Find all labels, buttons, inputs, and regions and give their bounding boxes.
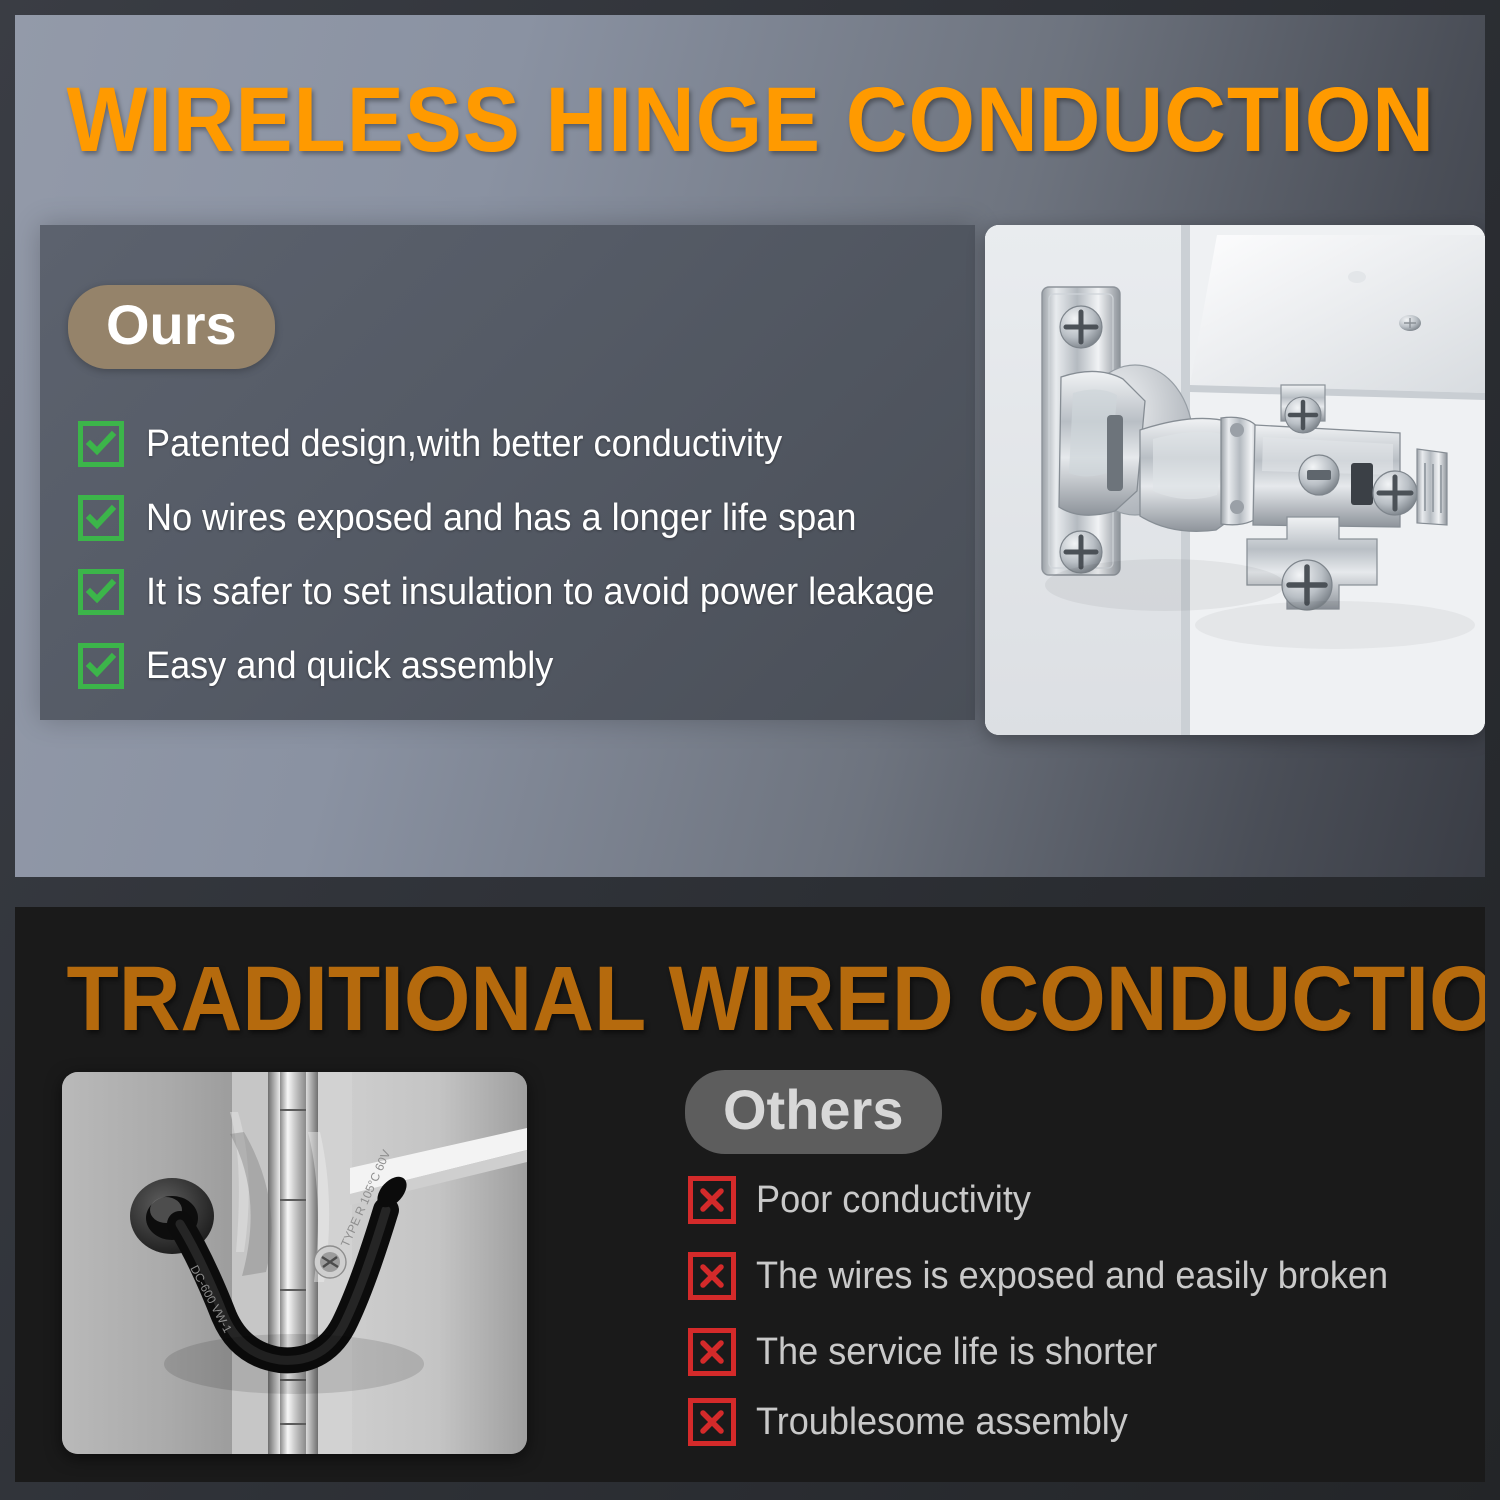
drawback-label: The service life is shorter [756,1331,1157,1373]
wireless-section-title: WIRELESS HINGE CONDUCTION [66,70,1433,170]
drawback-label: Troublesome assembly [756,1401,1128,1443]
cross-icon [688,1252,736,1300]
cross-icon [688,1176,736,1224]
others-drawback-list: Poor conductivity The wires is exposed a… [688,1162,1468,1454]
check-icon [78,643,124,689]
list-item: Poor conductivity [688,1162,1468,1238]
wireless-hinge-photo [985,225,1485,735]
list-item: The wires is exposed and easily broken [688,1238,1468,1314]
cross-icon [688,1398,736,1446]
others-badge: Others [685,1070,942,1154]
ours-card: Ours Patented design,with better conduct… [40,225,975,720]
list-item: Patented design,with better conductivity [78,407,958,481]
check-icon [78,421,124,467]
list-item: It is safer to set insulation to avoid p… [78,555,958,629]
cross-icon [688,1328,736,1376]
wired-hinge-photo: DC-600 VW-1 TYPE R 105°C 60V [62,1072,527,1454]
check-icon [78,495,124,541]
feature-label: No wires exposed and has a longer life s… [146,497,856,539]
list-item: No wires exposed and has a longer life s… [78,481,958,555]
drawback-label: The wires is exposed and easily broken [756,1255,1388,1297]
ours-feature-list: Patented design,with better conductivity… [78,407,958,703]
list-item: Easy and quick assembly [78,629,958,703]
check-icon [78,569,124,615]
feature-label: Easy and quick assembly [146,645,553,687]
drawback-label: Poor conductivity [756,1179,1031,1221]
list-item: The service life is shorter [688,1314,1468,1390]
infographic-stage: WIRELESS HINGE CONDUCTION Ours Patented … [0,0,1500,1500]
ours-badge: Ours [68,285,275,369]
feature-label: Patented design,with better conductivity [146,423,782,465]
wired-section: TRADITIONAL WIRED CONDUCTION Others Poor… [15,907,1485,1482]
wired-section-title: TRADITIONAL WIRED CONDUCTION [66,949,1433,1049]
list-item: Troublesome assembly [688,1390,1468,1454]
wireless-section: WIRELESS HINGE CONDUCTION Ours Patented … [15,15,1485,877]
feature-label: It is safer to set insulation to avoid p… [146,571,935,613]
